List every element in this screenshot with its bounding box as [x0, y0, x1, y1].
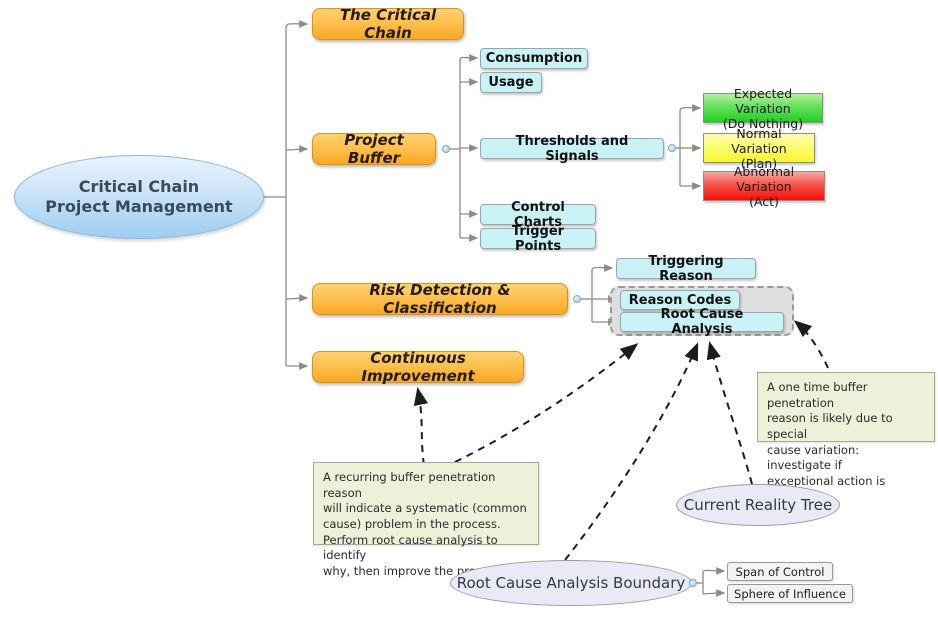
thresholds-collapse-dot[interactable]: [668, 144, 676, 152]
root-node[interactable]: Critical Chain Project Management: [14, 155, 264, 239]
note-line: reason is likely due to special: [767, 411, 926, 442]
mindmap-canvas: Critical Chain Project Management The Cr…: [0, 0, 938, 618]
node-usage[interactable]: Usage: [480, 72, 542, 93]
branch-label: The Critical Chain: [323, 6, 453, 42]
node-label: Reason Codes: [629, 293, 731, 308]
node-trigger-points[interactable]: Trigger Points: [480, 228, 596, 249]
note-one-time-buffer-penetration: A one time buffer penetration reason is …: [757, 372, 935, 442]
node-label-line1: Abnormal Variation: [709, 164, 819, 194]
root-label-line1: Critical Chain: [79, 177, 199, 197]
node-label: Root Cause Analysis: [628, 307, 776, 337]
note-line: Perform root cause analysis to identify: [323, 533, 530, 564]
note-recurring-buffer-penetration: A recurring buffer penetration reason wi…: [313, 462, 539, 545]
node-triggering-reason[interactable]: Triggering Reason: [616, 258, 756, 279]
node-sphere-of-influence[interactable]: Sphere of Influence: [727, 584, 853, 603]
node-label: Trigger Points: [488, 224, 588, 254]
node-expected-variation[interactable]: Expected Variation (Do Nothing): [703, 93, 823, 123]
node-label-line1: Expected Variation: [709, 86, 817, 116]
branch-continuous-improvement[interactable]: Continuous Improvement: [312, 351, 524, 383]
note-line: A recurring buffer penetration reason: [323, 470, 530, 501]
branch-project-buffer[interactable]: Project Buffer: [312, 133, 436, 165]
branch-label: Project Buffer: [323, 131, 425, 167]
note-line: A one time buffer penetration: [767, 380, 926, 411]
note-line: cause variation: investigate if: [767, 443, 926, 474]
node-label-line2: (Act): [749, 194, 779, 209]
node-label: Consumption: [486, 51, 582, 66]
node-label: Sphere of Influence: [734, 587, 846, 601]
branch-label: Risk Detection & Classification: [323, 281, 557, 317]
node-root-cause-analysis-boundary[interactable]: Root Cause Analysis Boundary: [450, 560, 692, 606]
boundary-collapse-dot[interactable]: [689, 579, 697, 587]
node-label: Current Reality Tree: [684, 496, 832, 514]
node-label: Thresholds and Signals: [488, 134, 656, 164]
node-normal-variation[interactable]: Normal Variation (Plan): [703, 133, 815, 163]
node-control-charts[interactable]: Control Charts: [480, 204, 596, 225]
risk-detection-collapse-dot[interactable]: [573, 295, 581, 303]
node-label: Triggering Reason: [624, 254, 748, 284]
node-span-of-control[interactable]: Span of Control: [727, 562, 833, 581]
node-label-line1: Normal Variation: [709, 126, 809, 156]
root-label-line2: Project Management: [45, 197, 232, 217]
node-current-reality-tree[interactable]: Current Reality Tree: [676, 484, 840, 526]
node-label: Root Cause Analysis Boundary: [457, 574, 686, 592]
node-abnormal-variation[interactable]: Abnormal Variation (Act): [703, 171, 825, 201]
project-buffer-collapse-dot[interactable]: [442, 145, 450, 153]
branch-the-critical-chain[interactable]: The Critical Chain: [312, 8, 464, 40]
branch-risk-detection-classification[interactable]: Risk Detection & Classification: [312, 283, 568, 315]
note-line: will indicate a systematic (common: [323, 501, 530, 517]
branch-label: Continuous Improvement: [323, 349, 513, 385]
note-line: cause) problem in the process.: [323, 517, 530, 533]
node-thresholds-and-signals[interactable]: Thresholds and Signals: [480, 138, 664, 159]
node-label: Usage: [488, 75, 533, 90]
node-label: Span of Control: [736, 565, 825, 579]
node-root-cause-analysis[interactable]: Root Cause Analysis: [620, 312, 784, 332]
node-consumption[interactable]: Consumption: [480, 48, 588, 69]
